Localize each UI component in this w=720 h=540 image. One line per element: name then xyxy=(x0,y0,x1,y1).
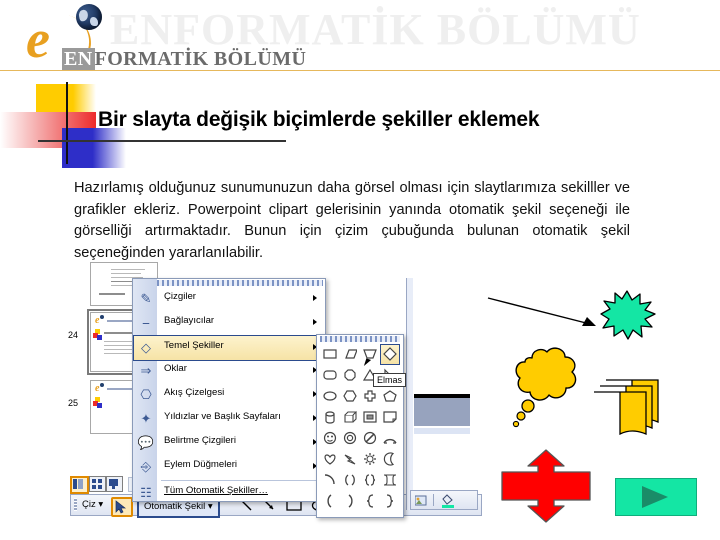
shapes-grid xyxy=(320,344,400,512)
shape-cylinder[interactable] xyxy=(320,407,340,428)
slide-pane-fragment xyxy=(414,398,470,426)
black-arrow-shape xyxy=(486,296,606,341)
menu-item-label: Tüm Otomatik Şekiller… xyxy=(164,485,268,496)
menu-item-label: Oklar xyxy=(164,363,187,374)
menu-item-oklar[interactable]: ⇒ Oklar xyxy=(134,359,324,383)
basic-shapes-flyout: Elmas xyxy=(316,334,404,518)
thumbnail-number: 24 xyxy=(68,330,78,340)
deco-horizontal-line xyxy=(38,140,286,142)
normal-view-button[interactable] xyxy=(70,476,89,494)
callouts-icon: 💬 xyxy=(136,433,156,452)
shape-arc-block[interactable] xyxy=(380,428,400,449)
shape-smiley-face[interactable] xyxy=(320,428,340,449)
menu-grip[interactable] xyxy=(157,280,323,286)
menu-item-yildizlar-ve-baslik-sayfalari[interactable]: ✦ Yıldızlar ve Başlık Sayfaları xyxy=(134,407,324,431)
shape-arc[interactable] xyxy=(320,470,340,491)
shape-ellipse[interactable] xyxy=(320,386,340,407)
shape-moon[interactable] xyxy=(380,449,400,470)
page-title: Bir slayta değişik biçimlerde şekiller e… xyxy=(98,108,698,132)
deco-square-blue xyxy=(62,128,126,168)
menu-item-label: Çizgiler xyxy=(164,291,196,302)
globe-icon xyxy=(76,4,102,30)
header-rule xyxy=(0,70,720,71)
shape-rounded-rectangle[interactable] xyxy=(320,365,340,386)
lines-icon: ✎ xyxy=(136,289,156,308)
brand-text: ENFORMATİK BÖLÜMÜ xyxy=(62,48,306,71)
brand-rest: FORMATİK BÖLÜMÜ xyxy=(95,48,307,70)
menu-item-baglayicilar[interactable]: ⎯ Bağlayıcılar xyxy=(134,311,324,335)
shape-cube[interactable] xyxy=(340,407,360,428)
toolbar-divider xyxy=(433,494,434,506)
vertical-scrollbar[interactable] xyxy=(406,278,413,510)
shape-braces[interactable] xyxy=(360,470,380,491)
fill-color-icon[interactable] xyxy=(441,494,453,506)
menu-item-label: Eylem Düğmeleri xyxy=(164,459,237,470)
flowchart-icon: ⎔ xyxy=(136,385,156,404)
all-autoshapes-icon: ☷ xyxy=(136,483,156,502)
menu-item-label: Temel Şekiller xyxy=(164,340,224,351)
arrows-icon: ⇒ xyxy=(136,361,156,380)
play-triangle-icon xyxy=(642,486,668,508)
menu-item-akis-cizelgesi[interactable]: ⎔ Akış Çizelgesi xyxy=(134,383,324,407)
thumbnail-number: 25 xyxy=(68,398,78,408)
slide-sorter-view-button[interactable] xyxy=(89,476,106,492)
multidocument-shape xyxy=(592,378,664,447)
shape-left-bracket[interactable] xyxy=(320,491,340,512)
thumb-globe-icon xyxy=(100,383,104,387)
flyout-grip[interactable] xyxy=(320,336,400,342)
brand-prefix: EN xyxy=(62,48,95,70)
format-toolbar-fragment xyxy=(410,490,478,510)
submenu-arrow-icon xyxy=(313,319,317,325)
menu-item-label: Yıldızlar ve Başlık Sayfaları xyxy=(164,411,281,422)
chevron-down-icon: ▾ xyxy=(98,499,103,510)
shape-sun[interactable] xyxy=(360,449,380,470)
shape-octagon[interactable] xyxy=(340,365,360,386)
select-arrow-icon[interactable] xyxy=(111,497,133,517)
slide-header: ENFORMATİK BÖLÜMÜ e ENFORMATİK BÖLÜMÜ xyxy=(0,0,720,70)
shape-left-brace[interactable] xyxy=(360,491,380,512)
shape-cross[interactable] xyxy=(360,386,380,407)
menu-item-belirtme-cizgileri[interactable]: 💬 Belirtme Çizgileri xyxy=(134,431,324,455)
shape-pentagon[interactable] xyxy=(380,386,400,407)
shape-tooltip: Elmas xyxy=(373,373,406,387)
menu-item-eylem-dugmeleri[interactable]: ⎆ Eylem Düğmeleri xyxy=(134,455,324,479)
powerpoint-screenshot: e 24 e 25 xyxy=(66,272,484,524)
slide-show-view-button[interactable] xyxy=(106,476,123,492)
up-down-arrow-cross-shape xyxy=(500,448,592,529)
shape-diamond[interactable] xyxy=(380,344,400,365)
shape-rectangle[interactable] xyxy=(320,344,340,365)
shape-brackets[interactable] xyxy=(340,470,360,491)
shape-bevel[interactable] xyxy=(360,407,380,428)
deco-vertical-line xyxy=(66,82,68,164)
shape-parallelogram[interactable] xyxy=(340,344,360,365)
menu-item-temel-sekiller[interactable]: ◇ Temel Şekiller xyxy=(133,335,325,361)
action-button-play-shape xyxy=(615,478,697,516)
shape-donut[interactable] xyxy=(340,428,360,449)
toolbar-grip[interactable] xyxy=(74,498,77,511)
shape-plaque[interactable] xyxy=(380,470,400,491)
shape-heart[interactable] xyxy=(320,449,340,470)
thumb-globe-icon xyxy=(100,315,104,319)
menu-item-cizgiler[interactable]: ✎ Çizgiler xyxy=(134,287,324,311)
shape-no-symbol[interactable] xyxy=(360,428,380,449)
basic-shapes-icon: ◇ xyxy=(136,338,156,357)
menu-item-label: Belirtme Çizgileri xyxy=(164,435,236,446)
shape-lightning-bolt[interactable] xyxy=(340,449,360,470)
autoshapes-menu: ✎ Çizgiler ⎯ Bağlayıcılar ◇ Temel Şekill… xyxy=(132,278,326,502)
menu-item-label: Akış Çizelgesi xyxy=(164,387,224,398)
draw-menu-button[interactable]: Çiz ▾ xyxy=(82,499,103,510)
body-paragraph: Hazırlamış olduğunuz sunumunuzun daha gö… xyxy=(74,178,630,264)
insert-picture-icon[interactable] xyxy=(415,494,427,506)
slide: ENFORMATİK BÖLÜMÜ e ENFORMATİK BÖLÜMÜ Bi… xyxy=(0,0,720,540)
cloud-callout-shape xyxy=(510,340,582,435)
menu-item-label: Bağlayıcılar xyxy=(164,315,214,326)
shape-right-bracket[interactable] xyxy=(340,491,360,512)
action-buttons-icon: ⎆ xyxy=(136,457,156,476)
connectors-icon: ⎯ xyxy=(136,313,156,332)
shape-hexagon[interactable] xyxy=(340,386,360,407)
shape-folded-corner[interactable] xyxy=(380,407,400,428)
shape-right-brace[interactable] xyxy=(380,491,400,512)
menu-item-tum-otomatik-sekiller[interactable]: ☷ Tüm Otomatik Şekiller… xyxy=(134,481,324,505)
pane-strip xyxy=(414,428,470,434)
submenu-arrow-icon xyxy=(313,295,317,301)
stars-banners-icon: ✦ xyxy=(136,409,156,428)
explosion-burst-shape xyxy=(600,290,656,345)
